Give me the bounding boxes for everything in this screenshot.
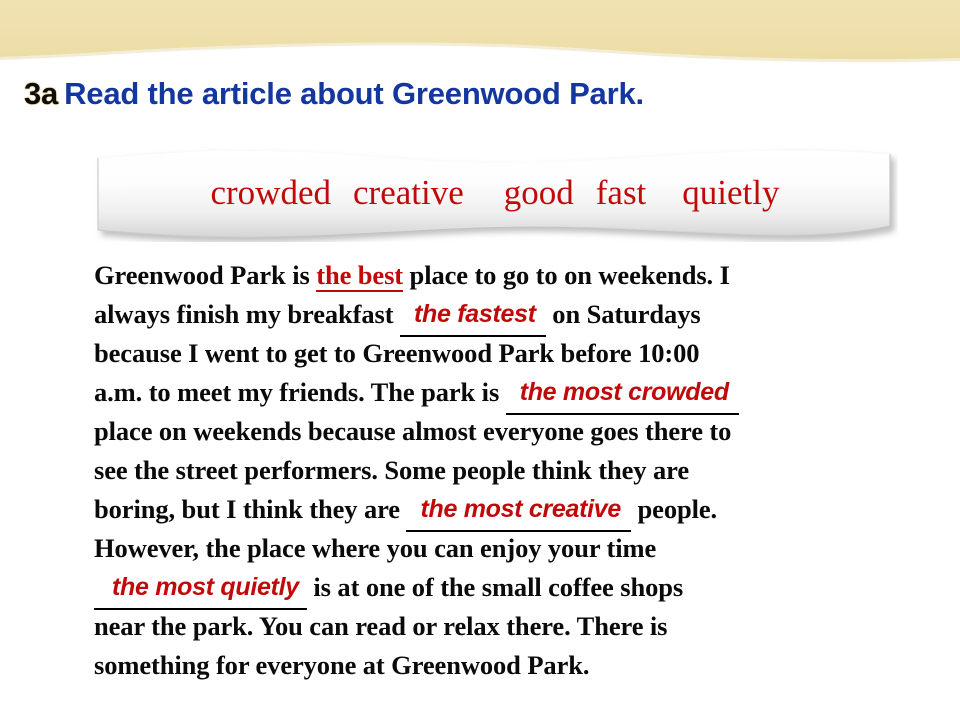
- article-text-run: place to go to on weekends. I: [403, 260, 730, 290]
- article-text-run: place on weekends because almost everyon…: [94, 416, 731, 446]
- article-line: because I went to get to Greenwood Park …: [94, 334, 906, 373]
- article-text-run: always finish my breakfast: [94, 299, 400, 329]
- article-line: Greenwood Park is the best place to go t…: [94, 256, 906, 295]
- article-line: place on weekends because almost everyon…: [94, 412, 906, 451]
- word-bank-item-quietly[interactable]: quietly: [682, 175, 779, 210]
- article-line: boring, but I think they are the most cr…: [94, 490, 906, 529]
- filled-answer-the-most-crowded[interactable]: the most crowded: [506, 373, 739, 415]
- article-text-run: on Saturdays: [546, 299, 701, 329]
- article-body: Greenwood Park is the best place to go t…: [94, 256, 906, 685]
- article-text-run: something for everyone at Greenwood Park…: [94, 650, 589, 680]
- article-line: see the street performers. Some people t…: [94, 451, 906, 490]
- word-bank-box: crowded creative good fast quietly: [92, 146, 898, 242]
- page-title-text: Read the article about Greenwood Park.: [64, 76, 644, 111]
- article-text-run: boring, but I think they are: [94, 494, 406, 524]
- filled-answer-the-most-creative[interactable]: the most creative: [406, 490, 631, 532]
- article-text-run: Greenwood Park is: [94, 260, 316, 290]
- word-bank-item-fast[interactable]: fast: [596, 175, 647, 210]
- filled-answer-the-most-quietly[interactable]: the most quietly: [94, 568, 307, 610]
- article-text-run: see the street performers. Some people t…: [94, 455, 689, 485]
- word-bank-item-good[interactable]: good: [504, 175, 574, 210]
- article-text-run: a.m. to meet my friends. The park is: [94, 377, 506, 407]
- article-text-run: is at one of the small coffee shops: [307, 572, 683, 602]
- article-text-run: because I went to get to Greenwood Park …: [94, 338, 699, 368]
- exercise-number: 3a: [24, 76, 64, 111]
- article-text-run: However, the place where you can enjoy y…: [94, 533, 656, 563]
- article-line: the most quietly is at one of the small …: [94, 568, 906, 607]
- page-title: 3aRead the article about Greenwood Park.: [24, 75, 644, 113]
- article-line: However, the place where you can enjoy y…: [94, 529, 906, 568]
- article-text-run: people.: [631, 494, 717, 524]
- word-bank-item-creative[interactable]: creative: [353, 175, 464, 210]
- top-decorative-banner: [0, 0, 960, 66]
- filled-answer-the-best[interactable]: the best: [316, 260, 403, 292]
- filled-answer-the-fastest[interactable]: the fastest: [400, 295, 546, 337]
- article-line: always finish my breakfast the fastest o…: [94, 295, 906, 334]
- article-line: a.m. to meet my friends. The park is the…: [94, 373, 906, 412]
- banner-wave-shape: [0, 0, 960, 66]
- article-text-run: near the park. You can read or relax the…: [94, 611, 667, 641]
- word-bank-word-list: crowded creative good fast quietly: [92, 146, 898, 238]
- article-line: something for everyone at Greenwood Park…: [94, 646, 906, 685]
- word-bank-item-crowded[interactable]: crowded: [210, 175, 331, 210]
- article-line: near the park. You can read or relax the…: [94, 607, 906, 646]
